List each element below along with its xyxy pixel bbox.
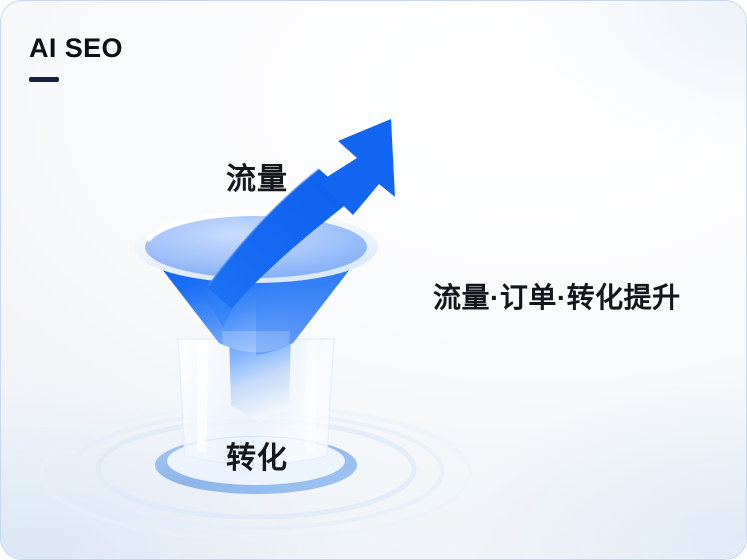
label-traffic: 流量 — [226, 154, 288, 198]
title-underline-rule — [29, 77, 59, 82]
label-conversion: 转化 — [226, 433, 288, 477]
page-title: AI SEO — [29, 35, 123, 62]
slide-canvas: AI SEO 流量·订单·转化提升 — [0, 0, 747, 560]
page-title-block: AI SEO — [29, 35, 123, 82]
tagline-text: 流量·订单·转化提升 — [433, 276, 681, 316]
